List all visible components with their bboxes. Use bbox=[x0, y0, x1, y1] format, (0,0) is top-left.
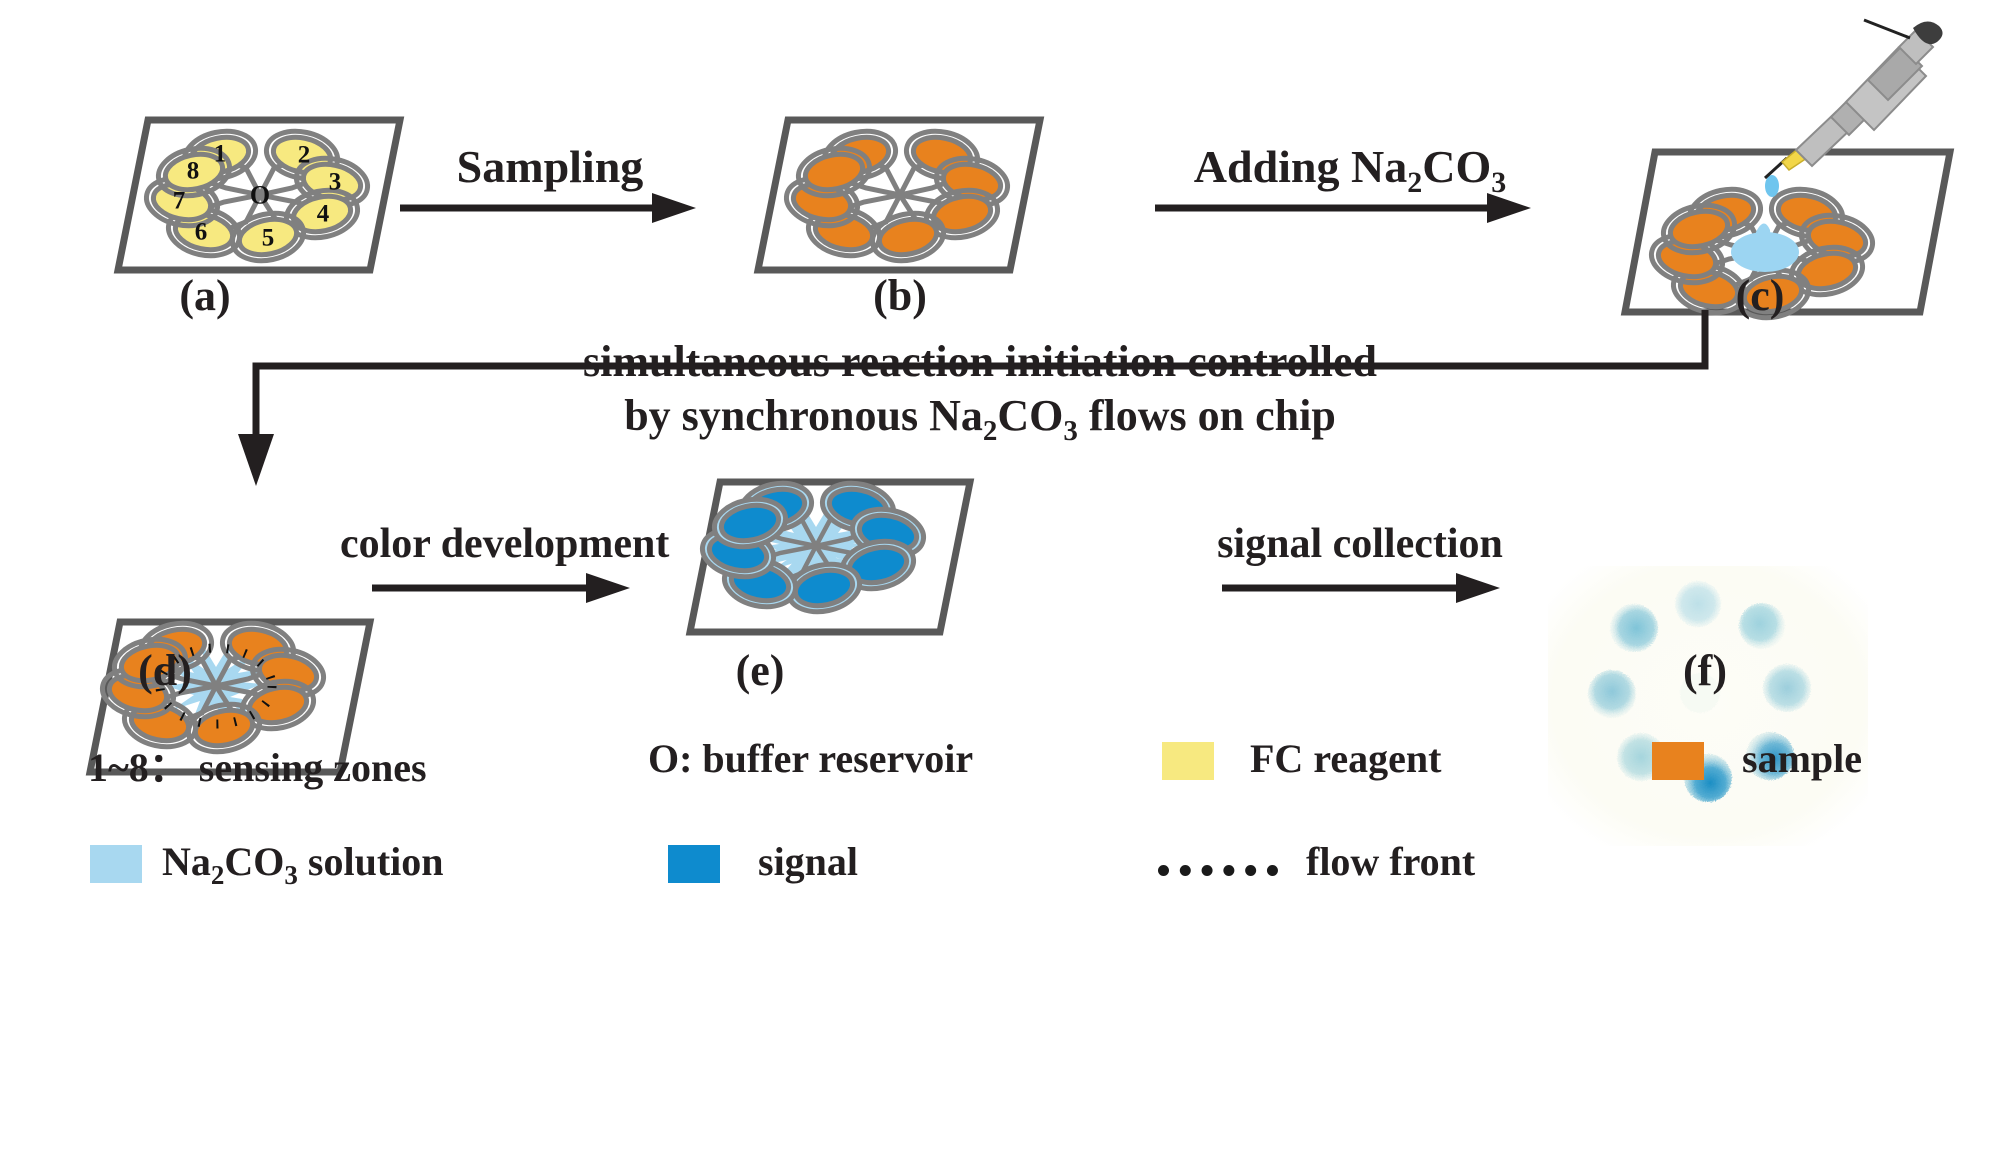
center-reservoir-marker: O bbox=[250, 181, 270, 210]
spot-2 bbox=[1739, 603, 1785, 649]
panel-label-f: (f) bbox=[1650, 645, 1760, 696]
legend-solution-word: solution bbox=[298, 839, 444, 884]
zone-number-8: 8 bbox=[187, 158, 200, 185]
figure-root: 1 2 3 4 5 6 7 8 O (a) Sampling bbox=[0, 0, 2000, 1156]
panel-label-e: (e) bbox=[705, 645, 815, 696]
droplet bbox=[1765, 175, 1779, 197]
zone-number-3: 3 bbox=[329, 169, 342, 196]
panel-f-photograph bbox=[1540, 560, 1880, 860]
mid-caption-line1: simultaneous reaction initiation control… bbox=[420, 335, 1540, 389]
adding-label-text: Adding Na bbox=[1194, 141, 1407, 192]
legend-na: Na bbox=[162, 839, 211, 884]
arrow-label-signal-collection: signal collection bbox=[1200, 520, 1520, 568]
arrow-color-development bbox=[372, 570, 634, 606]
mid-caption-line2: by synchronous Na2CO3 flows on chip bbox=[420, 389, 1540, 449]
legend-swatch-fc-reagent bbox=[1162, 742, 1214, 780]
legend-signal: signal bbox=[758, 838, 858, 885]
legend-swatch-na2co3-solution bbox=[90, 845, 142, 883]
legend-co: CO bbox=[224, 839, 284, 884]
spot-7 bbox=[1588, 670, 1636, 718]
zone-number-4: 4 bbox=[317, 201, 330, 228]
zone-number-6: 6 bbox=[195, 219, 208, 246]
zone-number-5: 5 bbox=[262, 225, 275, 252]
zone-number-7: 7 bbox=[173, 188, 186, 215]
legend-buffer-reservoir: O: buffer reservoir bbox=[648, 735, 973, 782]
mid-line2-sub3: 3 bbox=[1063, 414, 1078, 446]
mid-line2-part1: by synchronous Na bbox=[624, 391, 983, 440]
legend-swatch-sample bbox=[1652, 742, 1704, 780]
mid-line2-tail: flows on chip bbox=[1078, 391, 1336, 440]
legend-sample: sample bbox=[1742, 735, 1862, 782]
panel-b bbox=[700, 110, 1100, 280]
spot-3 bbox=[1763, 664, 1811, 712]
spot-1 bbox=[1675, 581, 1721, 627]
legend-na-sub2: 2 bbox=[211, 860, 225, 890]
arrow-label-sampling: Sampling bbox=[400, 140, 700, 193]
adding-label-co: CO bbox=[1422, 141, 1491, 192]
legend-sensing-zones: 1~8： sensing zones bbox=[88, 735, 427, 793]
legend-na2co3-solution: Na2CO3 solution bbox=[162, 838, 444, 891]
arrow-signal-collection bbox=[1222, 570, 1504, 606]
legend-flow-front: flow front bbox=[1306, 838, 1475, 885]
legend-fc-reagent: FC reagent bbox=[1250, 735, 1441, 782]
panel-e bbox=[600, 460, 1000, 640]
arrow-sampling bbox=[400, 190, 700, 226]
zone-number-2: 2 bbox=[298, 142, 311, 169]
mid-caption: simultaneous reaction initiation control… bbox=[420, 335, 1540, 449]
arrow-adding-na2co3 bbox=[1155, 190, 1535, 226]
legend-swatch-signal bbox=[668, 845, 720, 883]
panel-b-chip bbox=[700, 110, 1100, 280]
zone-number-1: 1 bbox=[214, 141, 227, 168]
mid-line2-co: CO bbox=[997, 391, 1063, 440]
legend-swatch-flow-front bbox=[1158, 865, 1278, 876]
panel-label-d: (d) bbox=[110, 645, 220, 696]
panel-f bbox=[1540, 560, 1880, 860]
legend-co-sub3: 3 bbox=[284, 860, 298, 890]
mid-line2-sub2: 2 bbox=[983, 414, 998, 446]
